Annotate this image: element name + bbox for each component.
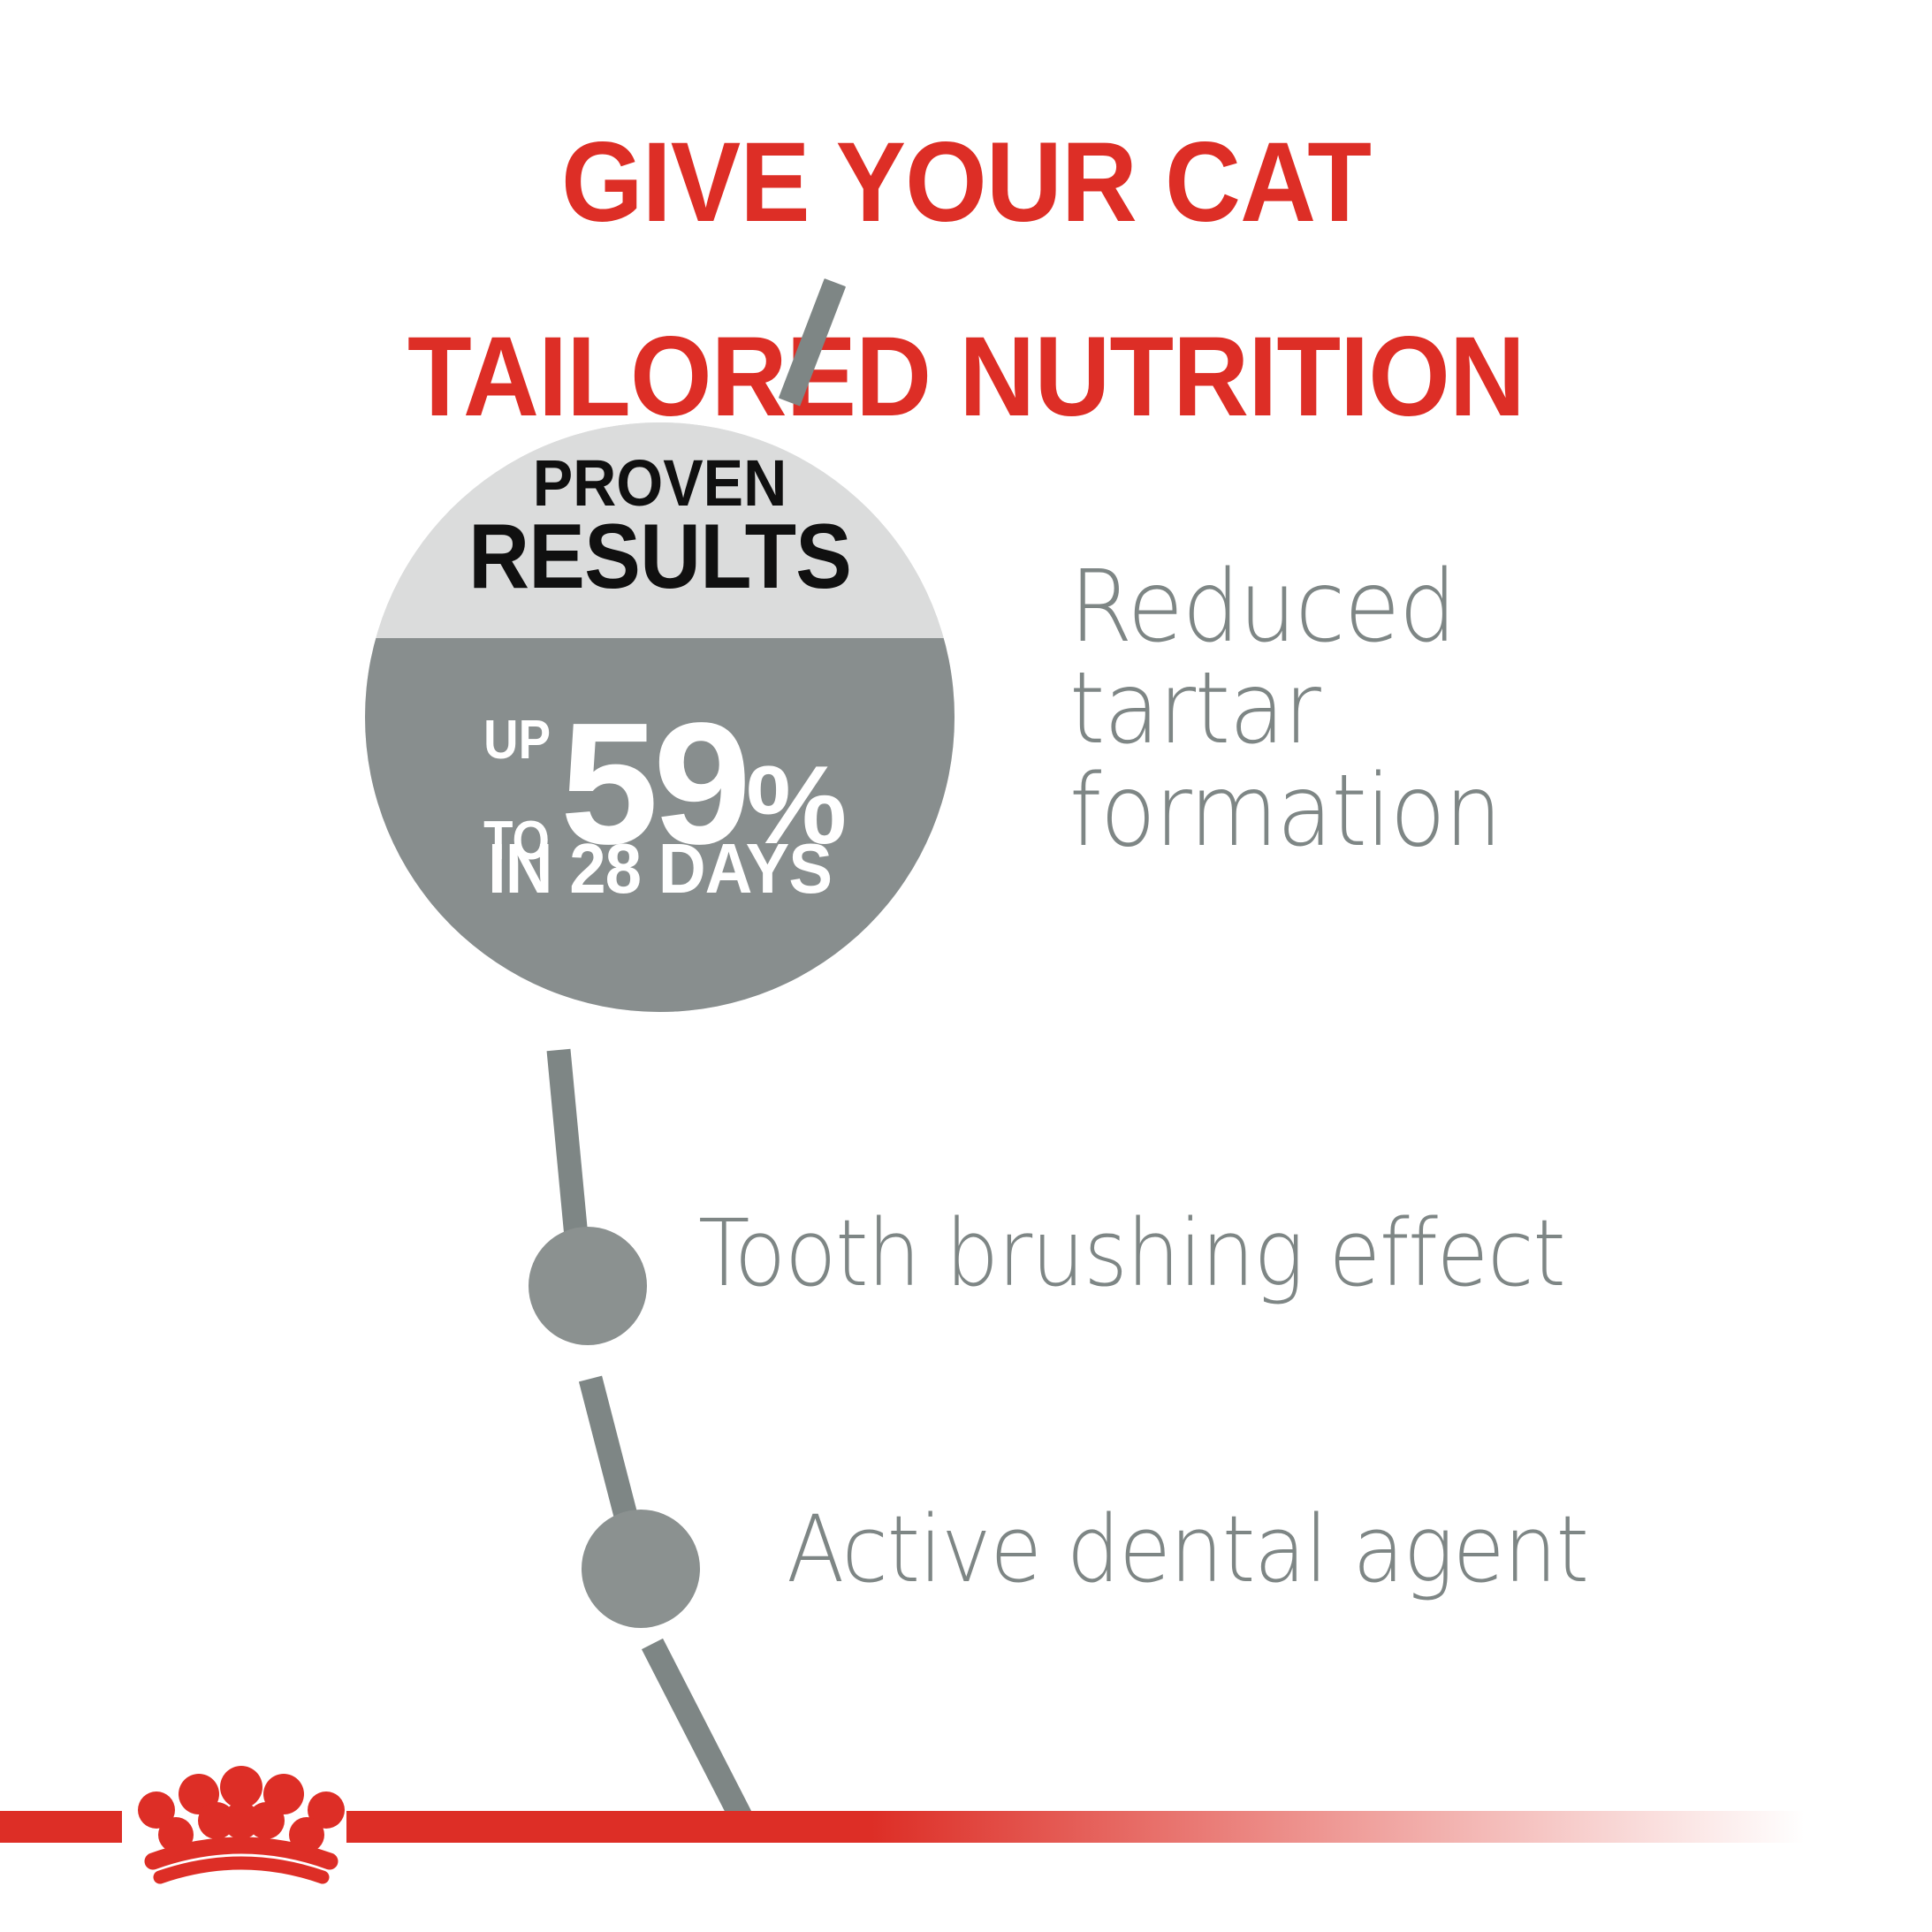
footer-rule-right (346, 1811, 1805, 1843)
headline-line-2: TAILORED NUTRITION (68, 329, 1865, 426)
footer-rule-left (0, 1811, 122, 1843)
feature-label-tooth-brushing-effect: Tooth brushing effect (698, 1206, 1564, 1301)
feature-label-reduced-tartar-formation: Reduced tartar formation (1069, 557, 1501, 863)
connector-segment-3 (652, 1644, 741, 1816)
feature-label-active-dental-agent: Active dental agent (787, 1502, 1588, 1597)
page-title: GIVE YOUR CAT TAILORED NUTRITION (68, 37, 1865, 523)
connector-node-dot-1 (529, 1227, 647, 1345)
proven-results-badge: PROVEN RESULTS UP TO 59% IN 28 DAYS (365, 422, 955, 1012)
infographic-canvas: GIVE YOUR CAT TAILORED NUTRITION PROVEN … (0, 0, 1932, 1932)
connector-node-dot-2 (582, 1510, 700, 1628)
headline-line-1: GIVE YOUR CAT (68, 134, 1865, 232)
connector-segment-1 (559, 1050, 585, 1330)
connector-segment-2 (590, 1379, 645, 1591)
badge-qualifier-up: UP (484, 715, 551, 765)
badge-label-results: RESULTS (389, 511, 932, 603)
royal-canin-crown-logo (137, 1757, 345, 1890)
badge-timeframe: IN 28 DAYS (385, 833, 933, 904)
